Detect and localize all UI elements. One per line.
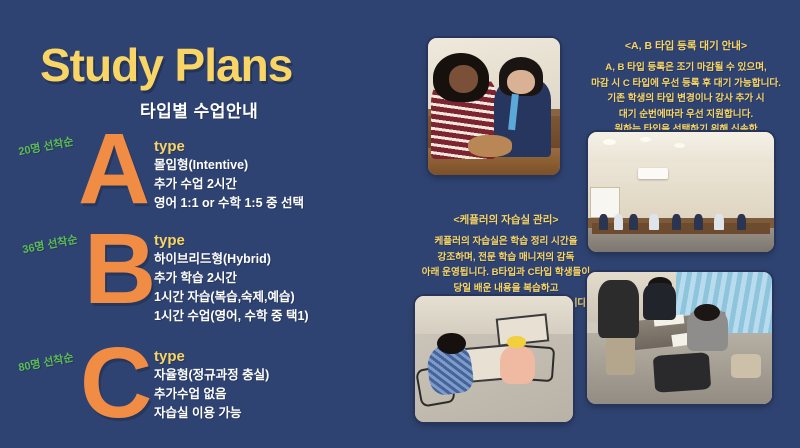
plan-a-detail-line: 추가 수업 2시간 [154, 175, 304, 194]
plan-b-type-label: type [154, 232, 185, 249]
note-ab-line: A, B 타입 등록은 조기 마감될 수 있으며, [575, 60, 797, 76]
photo2-ceiling-light [640, 137, 651, 142]
photo-classroom-study-hall [588, 132, 774, 252]
note-study-heading: <케플러의 자습실 관리> [392, 212, 620, 227]
note-ab-line: 기존 학생의 타입 변경이나 강사 추가 시 [575, 91, 797, 107]
photo2-air-conditioner [638, 168, 668, 179]
photo3-wall [415, 296, 573, 334]
plan-b-detail-line: 추가 학습 2시간 [154, 269, 309, 288]
plan-b-details: 하이브리드형(Hybrid) 추가 학습 2시간 1시간 자습(복습,숙제,예습… [154, 250, 309, 326]
photo2-student [649, 214, 658, 231]
photo2-student [737, 214, 746, 231]
photo2-student [714, 214, 723, 231]
photo4-bag [731, 354, 761, 378]
note-study-line: 당일 배운 내용을 복습하고 [392, 281, 620, 297]
plan-c-letter: C [80, 344, 149, 422]
note-study-line: 강조하며, 전문 학습 매니저의 감독 [392, 250, 620, 266]
plan-a-detail-line: 영어 1:1 or 수학 1:5 중 선택 [154, 194, 304, 213]
plan-a-details: 몰입형(Intentive) 추가 수업 2시간 영어 1:1 or 수학 1:… [154, 156, 304, 213]
photo3-teacher-hair [437, 333, 465, 354]
photo2-student [599, 214, 608, 231]
plan-c-detail-line: 추가수업 없음 [154, 385, 269, 404]
plan-b-detail-line: 하이브리드형(Hybrid) [154, 250, 309, 269]
page-subtitle: 타입별 수업안내 [140, 97, 258, 122]
plan-a-type-label: type [154, 138, 185, 155]
plan-a-detail-line: 몰입형(Intentive) [154, 156, 304, 175]
photo1-boy-face [507, 70, 535, 95]
plan-b-rank-badge: 36명 선착순 [21, 231, 79, 257]
photo2-student [614, 214, 623, 231]
photo4-standing-woman [643, 283, 676, 320]
note-ab-line: 마감 시 C 타입에 우선 등록 후 대기 가능합니다. [575, 76, 797, 92]
photo-overhead-tutor-and-child [415, 296, 573, 422]
plan-b-detail-line: 1시간 자습(복습,숙제,예습) [154, 288, 309, 307]
photo1-hands-on-desk [468, 135, 513, 157]
page-title: Study Plans [40, 38, 292, 92]
plan-c-detail-line: 자율형(정규과정 충실) [154, 366, 269, 385]
photo4-student-hair [694, 304, 720, 321]
photo4-chair [652, 352, 710, 393]
plan-card-c: 80명 선착순 C type 자율형(정규과정 충실) 추가수업 없음 자습실 … [0, 344, 400, 444]
poster-canvas: Study Plans 타입별 수업안내 20명 선착순 A type 몰입형(… [0, 0, 800, 448]
note-ab-heading: <A, B 타입 등록 대기 안내> [575, 38, 797, 53]
photo1-teacher-face [449, 65, 478, 92]
photo4-standing-man [598, 280, 639, 338]
photo2-ceiling [588, 132, 774, 166]
plan-a-rank-badge: 20명 선착순 [17, 133, 75, 159]
photo2-student [694, 214, 703, 231]
plan-c-rank-badge: 80명 선착순 [17, 349, 75, 375]
photo2-student [672, 214, 681, 231]
plan-a-letter: A [78, 130, 147, 208]
plan-c-detail-line: 자습실 이용 가능 [154, 404, 269, 423]
note-study-line: 아래 운영됩니다. B타입과 C타입 학생들이 [392, 265, 620, 281]
plan-card-a: 20명 선착순 A type 몰입형(Intentive) 추가 수업 2시간 … [0, 130, 400, 226]
photo2-ceiling-light [674, 143, 685, 148]
photo-tutor-and-boy [428, 38, 560, 175]
plan-b-detail-line: 1시간 수업(영어, 수학 중 택1) [154, 307, 309, 326]
plan-c-details: 자율형(정규과정 충실) 추가수업 없음 자습실 이용 가능 [154, 366, 269, 423]
photo4-standing-man-legs [606, 333, 636, 375]
note-ab-line: 대기 순번에따라 우선 지원합니다. [575, 107, 797, 123]
photo2-student [629, 214, 638, 231]
plan-c-type-label: type [154, 348, 185, 365]
note-study-line: 케플러의 자습실은 학습 정리 시간을 [392, 234, 620, 250]
photo-students-near-blinds [587, 272, 772, 404]
photo3-yellow-hair-bow [507, 336, 526, 347]
photo3-child [500, 346, 535, 384]
plan-card-b: 36명 선착순 B type 하이브리드형(Hybrid) 추가 학습 2시간 … [0, 228, 400, 340]
plan-b-letter: B [84, 230, 153, 308]
